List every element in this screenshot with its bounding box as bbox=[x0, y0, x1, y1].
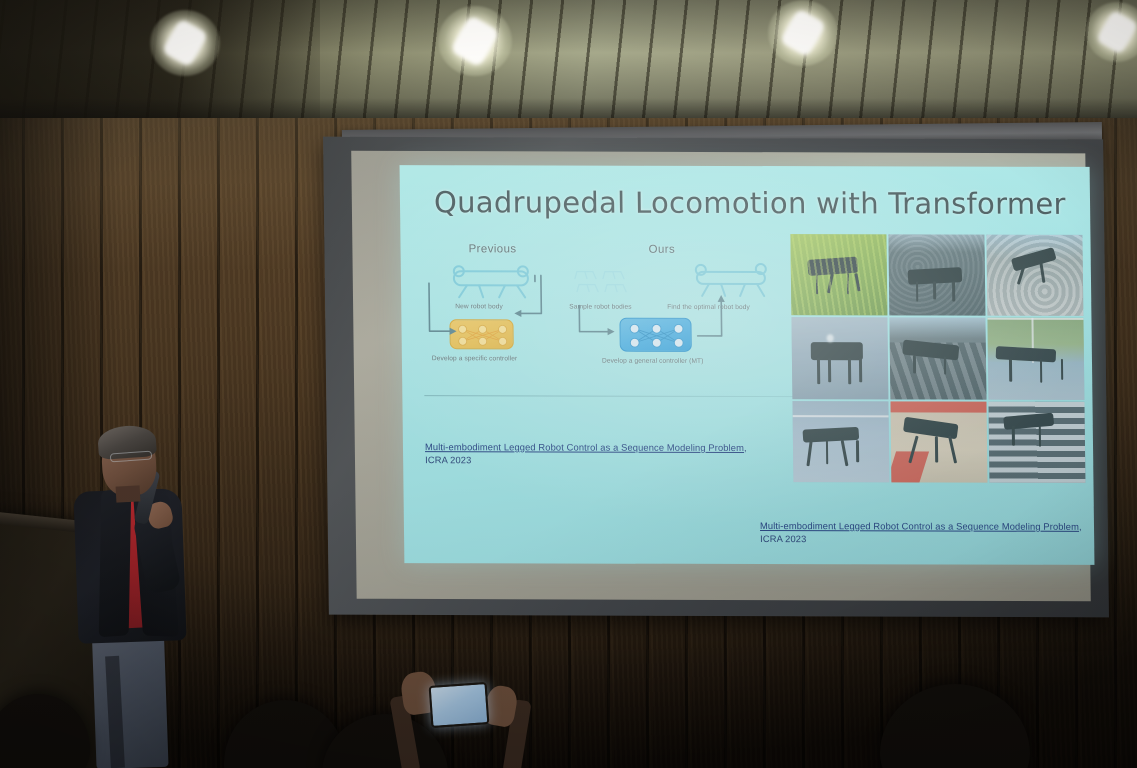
citation-left-link[interactable]: Multi-embodiment Legged Robot Control as… bbox=[425, 441, 744, 453]
projection-screen-assembly: Quadrupedal Locomotion with Transformer … bbox=[324, 126, 1110, 626]
presenter-neck bbox=[116, 485, 141, 502]
robot-photo-grid bbox=[790, 234, 1085, 483]
method-diagram: Previous Ours New robot body bbox=[422, 243, 804, 384]
audience-head-1 bbox=[0, 694, 90, 768]
ceiling-light-3 bbox=[768, 0, 838, 66]
presenter-lapel-left bbox=[99, 489, 131, 638]
robot-walking-road bbox=[792, 401, 889, 483]
ceiling-light-2 bbox=[438, 6, 512, 76]
robot-on-gravel bbox=[888, 234, 985, 316]
lecture-hall-scene: Quadrupedal Locomotion with Transformer … bbox=[0, 0, 1137, 768]
flow-arrow-up-ours bbox=[691, 288, 738, 344]
robot-near-grass-edge bbox=[987, 318, 1084, 400]
loop-arrow-previous bbox=[423, 273, 548, 341]
caption-specific-controller: Develop a specific controller bbox=[432, 355, 517, 362]
slide-separator bbox=[424, 395, 802, 397]
flow-arrow-down-ours bbox=[571, 302, 624, 344]
diagram-heading-previous: Previous bbox=[468, 243, 516, 255]
general-controller-box bbox=[619, 318, 691, 352]
audience-head-3 bbox=[322, 714, 448, 768]
robot-on-wood-planks bbox=[889, 318, 986, 400]
audience-phone-screen[interactable] bbox=[429, 682, 490, 728]
robot-on-stairs bbox=[988, 401, 1085, 483]
citation-right[interactable]: Multi-embodiment Legged Robot Control as… bbox=[760, 520, 1090, 547]
audience-head-4 bbox=[880, 684, 1030, 768]
caption-general-controller: Develop a general controller (MT) bbox=[602, 358, 704, 365]
sampled-robot-bodies bbox=[573, 266, 635, 300]
ceiling bbox=[0, 0, 1137, 132]
robot-on-pavement bbox=[791, 317, 888, 399]
audience-foreground bbox=[0, 648, 1137, 768]
slide-title: Quadrupedal Locomotion with Transformer bbox=[434, 185, 1066, 221]
robot-on-red-track bbox=[890, 401, 987, 483]
diagram-heading-ours: Ours bbox=[649, 244, 676, 256]
robot-in-tall-grass bbox=[790, 234, 887, 316]
projected-slide: Quadrupedal Locomotion with Transformer … bbox=[400, 165, 1095, 565]
citation-left[interactable]: Multi-embodiment Legged Robot Control as… bbox=[425, 441, 755, 468]
robot-climbing-rocks bbox=[986, 235, 1083, 317]
ceiling-light-1 bbox=[150, 10, 220, 76]
citation-right-link[interactable]: Multi-embodiment Legged Robot Control as… bbox=[760, 520, 1079, 532]
